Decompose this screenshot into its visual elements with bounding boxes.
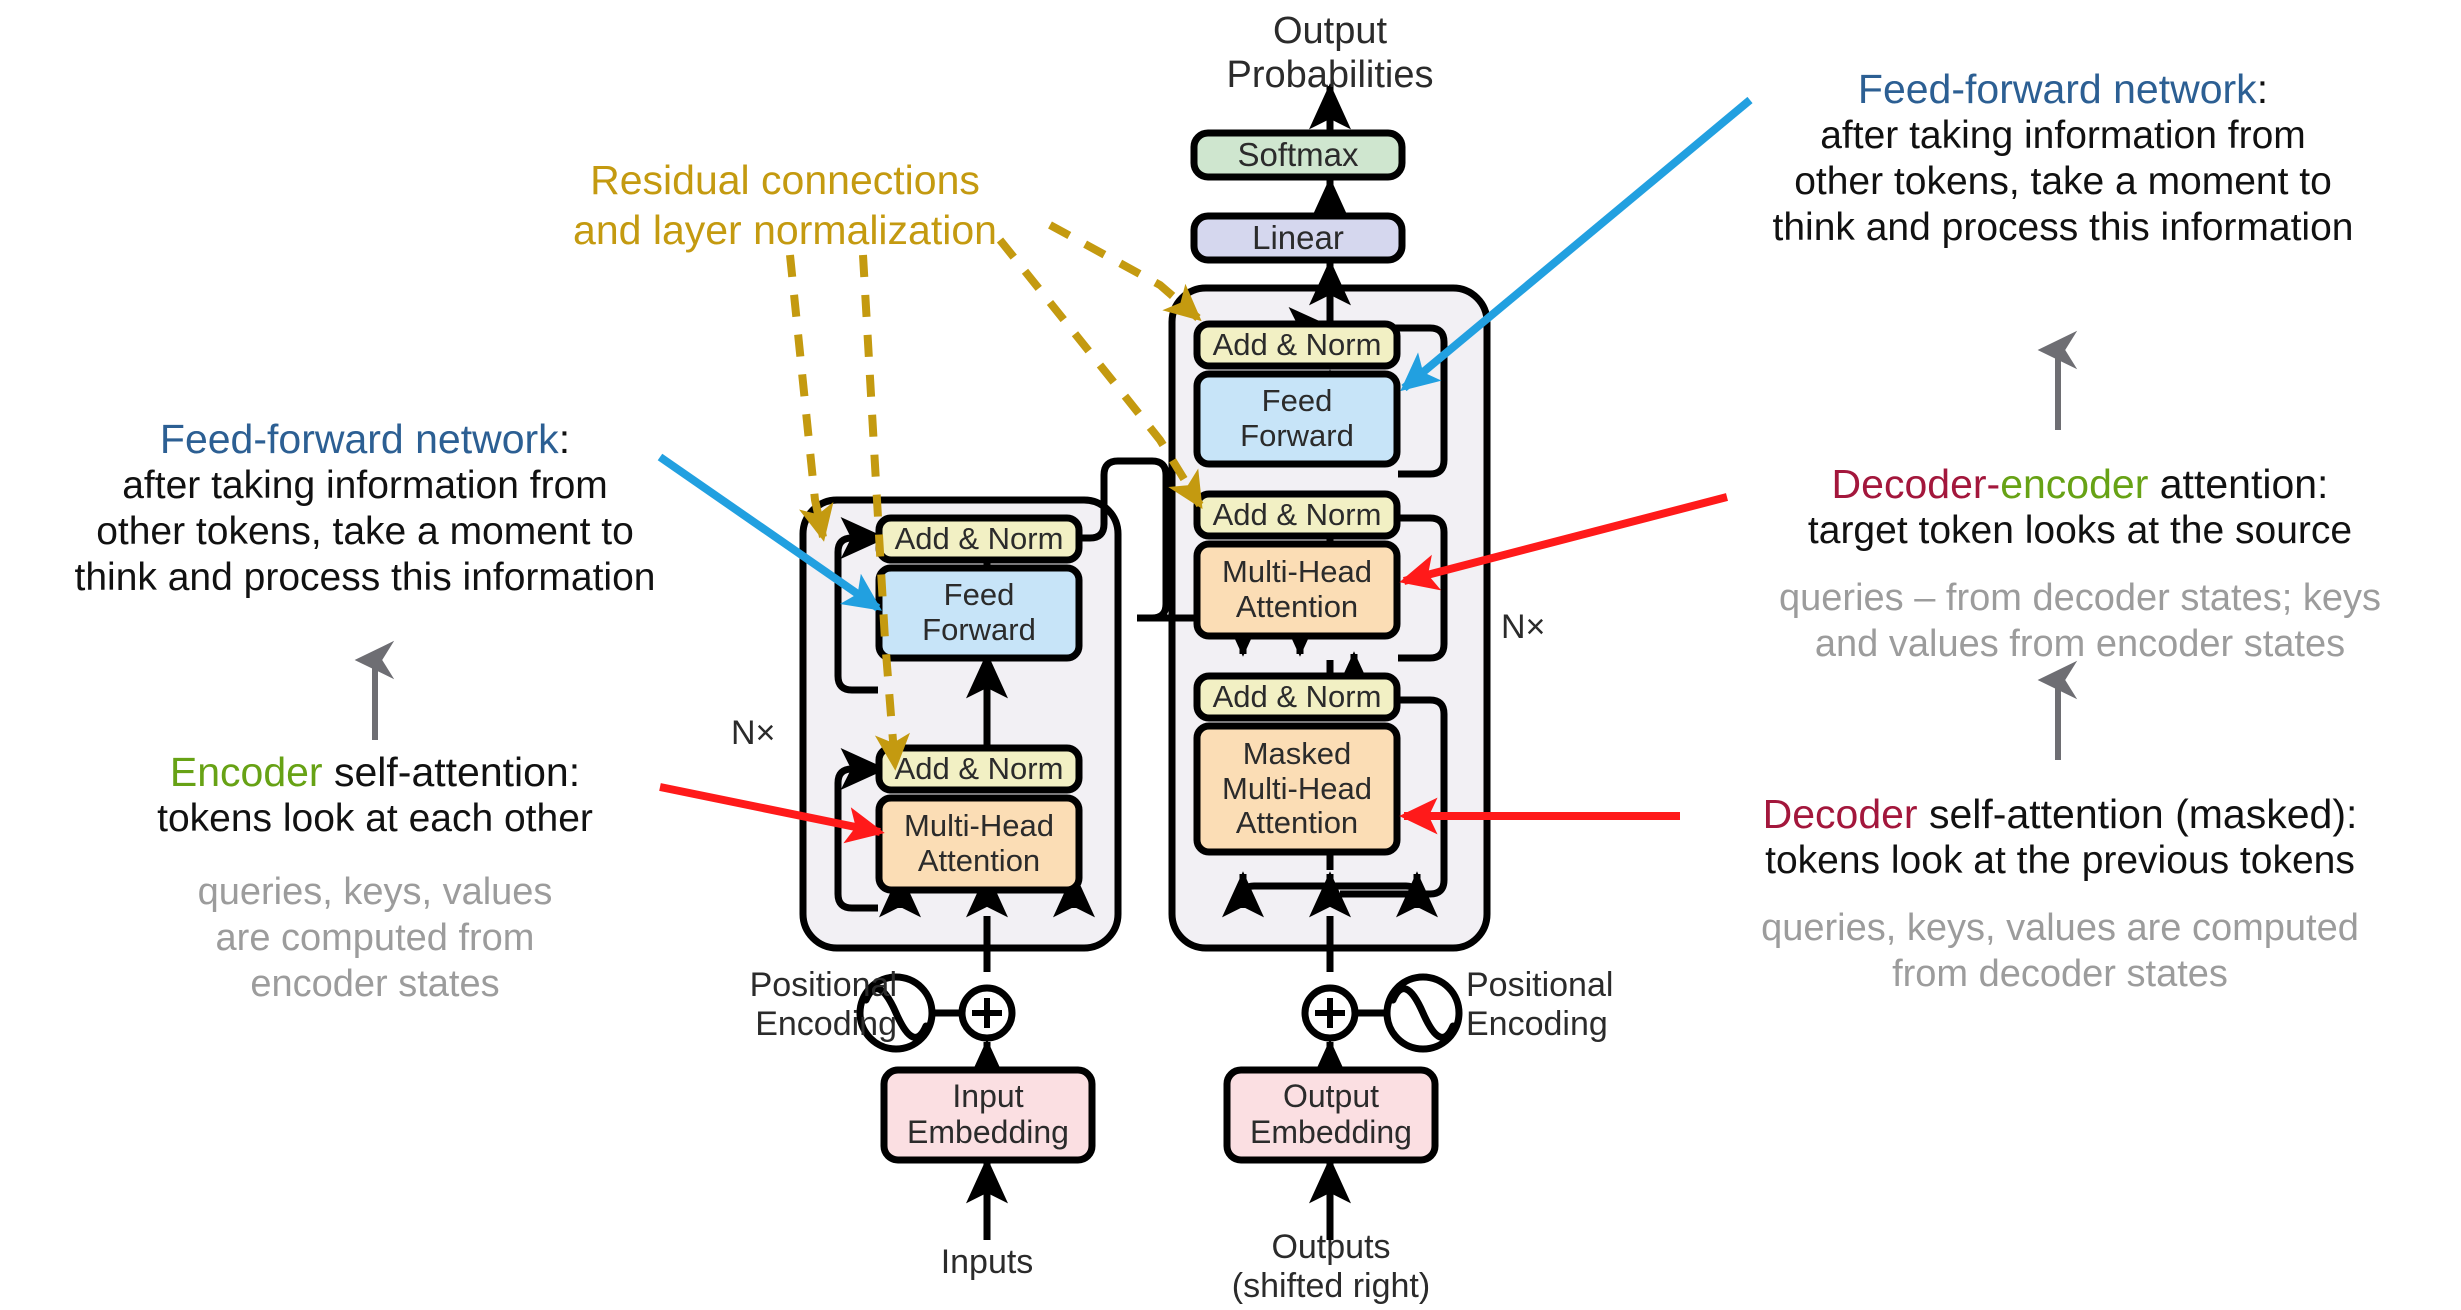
decoder-addnorm-top-label: Add & Norm: [1197, 324, 1397, 366]
ffn-right-colon: :: [2257, 66, 2268, 112]
masked-line3: Attention: [1236, 806, 1358, 841]
residual-line2: and layer normalization: [520, 205, 1050, 255]
pe-dec-line2: Encoding: [1466, 1005, 1686, 1044]
cross-attn-rest: attention:: [2148, 461, 2328, 507]
encoder-positional-encoding-label: Positional Encoding: [697, 966, 897, 1044]
ffn-right-annotation: Feed-forward network: after taking infor…: [1668, 65, 2458, 251]
residual-annotation: Residual connections and layer normaliza…: [520, 155, 1050, 255]
outputs-line1: Outputs: [1220, 1228, 1442, 1267]
cross-attn-strong1: Decoder: [1832, 461, 1987, 507]
ffn-left-annotation: Feed-forward network: after taking infor…: [20, 415, 710, 601]
nx-decoder-label: N×: [1501, 608, 1545, 647]
enc-attn-sub2: are computed from: [55, 916, 695, 962]
ff-line1: Feed: [1262, 384, 1333, 419]
enc-attn-body: tokens look at each other: [55, 796, 695, 842]
output-label: Output: [1205, 10, 1455, 54]
encoder-self-attention-label: Multi-Head Attention: [879, 798, 1079, 890]
input-embedding-label: Input Embedding: [884, 1070, 1092, 1160]
decoder-masked-attention-label: Masked Multi-Head Attention: [1197, 726, 1397, 852]
ffn-right-body3: think and process this information: [1668, 205, 2458, 251]
encoder-feed-forward-label: Feed Forward: [879, 568, 1079, 658]
ffn-right-heading-row: Feed-forward network:: [1668, 65, 2458, 113]
ffn-right-heading: Feed-forward network: [1858, 66, 2257, 112]
ffn-left-heading-row: Feed-forward network:: [20, 415, 710, 463]
enc-ff-line2: Forward: [922, 613, 1036, 648]
inputs-label: Inputs: [887, 1243, 1087, 1282]
ffn-left-colon: :: [559, 416, 570, 462]
cross-attn-heading-row: Decoder-encoder attention:: [1700, 460, 2460, 508]
output-emb-line2: Embedding: [1250, 1115, 1412, 1151]
ff-line2: Forward: [1240, 419, 1354, 454]
mha-line2: Attention: [1236, 590, 1358, 625]
output-embedding-label: Output Embedding: [1227, 1070, 1435, 1160]
nx-encoder-label: N×: [731, 714, 775, 753]
enc-mha-line1: Multi-Head: [904, 809, 1054, 844]
masked-line2: Multi-Head: [1222, 772, 1372, 807]
decoder-addnorm-mid-label: Add & Norm: [1197, 494, 1397, 536]
pe-dec-line1: Positional: [1466, 966, 1686, 1005]
encoder-addnorm-bottom-label: Add & Norm: [879, 748, 1079, 790]
cross-attn-sub1: queries – from decoder states; keys: [1700, 576, 2460, 622]
decoder-cross-attention-label: Multi-Head Attention: [1197, 544, 1397, 636]
ffn-right-body1: after taking information from: [1668, 113, 2458, 159]
enc-attn-heading-row: Encoder self-attention:: [55, 748, 695, 796]
input-emb-line2: Embedding: [907, 1115, 1069, 1151]
dec-attn-sub2: from decoder states: [1660, 952, 2460, 998]
encoder-addnorm-top-label: Add & Norm: [879, 518, 1079, 560]
residual-line1: Residual connections: [520, 155, 1050, 205]
decoder-positional-encoding-label: Positional Encoding: [1466, 966, 1686, 1044]
softmax-label: Softmax: [1194, 133, 1402, 177]
ffn-left-heading: Feed-forward network: [160, 416, 559, 462]
decoder-self-attention-annotation: Decoder self-attention (masked): tokens …: [1660, 790, 2460, 998]
dec-attn-rest: self-attention (masked):: [1918, 791, 2358, 837]
encoder-self-attention-annotation: Encoder self-attention: tokens look at e…: [55, 748, 695, 1007]
decoder-addnorm-bottom-label: Add & Norm: [1197, 676, 1397, 718]
decoder-encoder-attention-annotation: Decoder-encoder attention: target token …: [1700, 460, 2460, 668]
pe-enc-line1: Positional: [697, 966, 897, 1005]
enc-attn-rest: self-attention:: [323, 749, 581, 795]
enc-mha-line2: Attention: [918, 844, 1040, 879]
cross-attn-strong2: encoder: [2000, 461, 2148, 507]
cross-attn-body: target token looks at the source: [1700, 508, 2460, 554]
dec-attn-heading-row: Decoder self-attention (masked):: [1660, 790, 2460, 838]
output-probabilities-label: Output Probabilities: [1205, 10, 1455, 97]
ffn-left-body3: think and process this information: [20, 555, 710, 601]
cross-attn-dash: -: [1987, 461, 2001, 507]
dec-attn-sub1: queries, keys, values are computed: [1660, 906, 2460, 952]
dec-attn-body: tokens look at the previous tokens: [1660, 838, 2460, 884]
ffn-left-body2: other tokens, take a moment to: [20, 509, 710, 555]
outputs-line2: (shifted right): [1220, 1267, 1442, 1306]
ffn-left-body1: after taking information from: [20, 463, 710, 509]
dec-attn-strong: Decoder: [1763, 791, 1918, 837]
probabilities-label: Probabilities: [1205, 54, 1455, 98]
masked-line1: Masked: [1243, 737, 1352, 772]
enc-ff-line1: Feed: [944, 578, 1015, 613]
mha-line1: Multi-Head: [1222, 555, 1372, 590]
ffn-right-body2: other tokens, take a moment to: [1668, 159, 2458, 205]
enc-attn-sub3: encoder states: [55, 962, 695, 1008]
cross-attn-sub2: and values from encoder states: [1700, 622, 2460, 668]
input-emb-line1: Input: [952, 1079, 1023, 1115]
outputs-label: Outputs (shifted right): [1220, 1228, 1442, 1306]
decoder-feed-forward-label: Feed Forward: [1197, 374, 1397, 464]
output-emb-line1: Output: [1283, 1079, 1379, 1115]
residual-pointer-encoder-ffn: [790, 255, 823, 537]
linear-label: Linear: [1194, 216, 1402, 260]
enc-attn-sub1: queries, keys, values: [55, 870, 695, 916]
enc-attn-strong: Encoder: [170, 749, 323, 795]
pe-enc-line2: Encoding: [697, 1005, 897, 1044]
